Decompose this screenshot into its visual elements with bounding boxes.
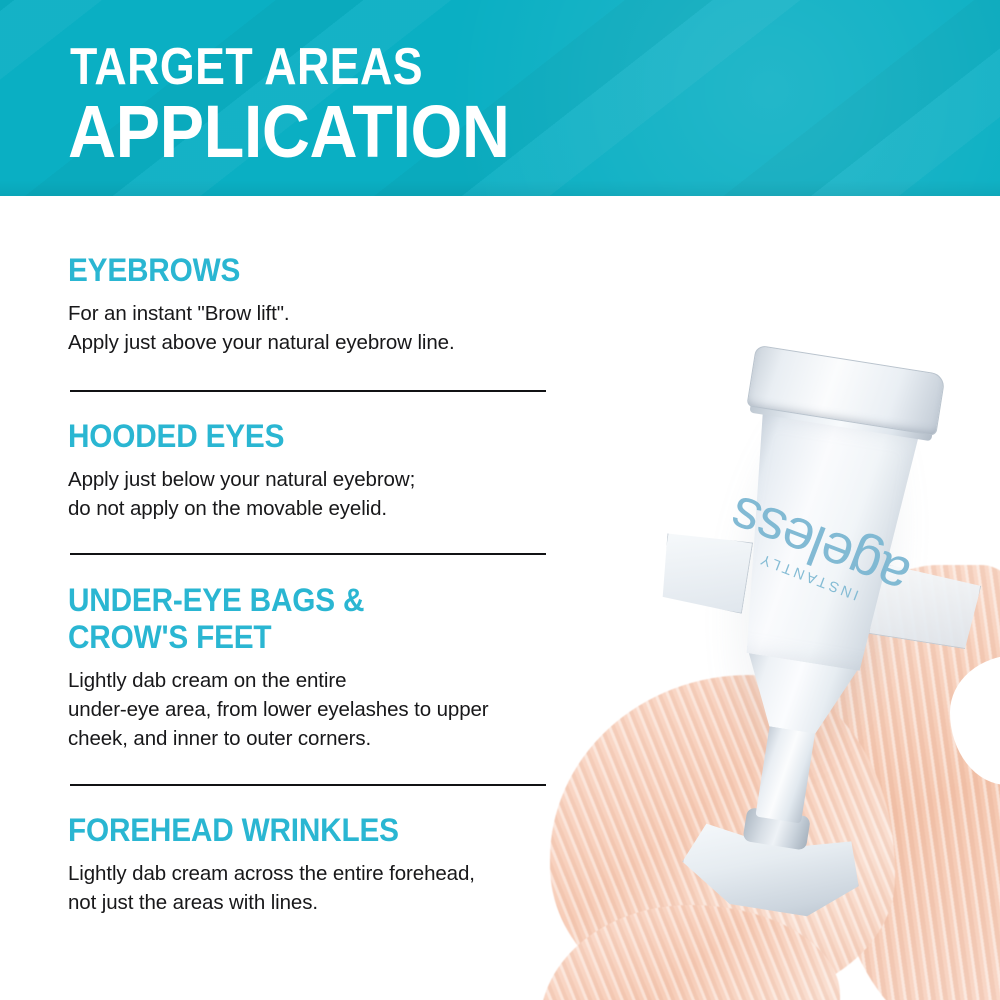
section-under-eye-bags-title-line2: CROW'S FEET [68,619,459,656]
header-title-line2: APPLICATION [68,95,510,169]
section-hooded-eyes-body: Apply just below your natural eyebrow; d… [68,466,415,523]
section-eyebrows-body: For an instant "Brow lift". Apply just a… [68,300,455,357]
section-hooded-eyes: HOODED EYES Apply just below your natura… [68,418,415,523]
divider-2 [70,553,546,555]
section-under-eye-bags-body: Lightly dab cream on the entire under-ey… [68,667,489,753]
section-under-eye-bags: UNDER-EYE BAGS & CROW'S FEET Lightly dab… [68,582,489,753]
divider-1 [70,390,546,392]
section-forehead-wrinkles-title: FOREHEAD WRINKLES [68,812,446,849]
poster-canvas: TARGET AREAS APPLICATION EYEBROWS For an… [0,0,1000,1000]
divider-3 [70,784,546,786]
header-title-line1: TARGET AREAS [70,41,423,93]
ampoule-wing-left [657,529,753,614]
section-eyebrows: EYEBROWS For an instant "Brow lift". App… [68,252,455,357]
section-forehead-wrinkles: FOREHEAD WRINKLES Lightly dab cream acro… [68,812,475,917]
product-artwork: INSTANTLY ageless [520,330,1000,1000]
section-forehead-wrinkles-body: Lightly dab cream across the entire fore… [68,860,475,917]
section-eyebrows-title: EYEBROWS [68,252,428,289]
header-banner: TARGET AREAS APPLICATION [0,0,1000,196]
banner-bottom-shade [0,180,1000,196]
section-under-eye-bags-title: UNDER-EYE BAGS & [68,582,459,619]
section-hooded-eyes-title: HOODED EYES [68,418,391,455]
